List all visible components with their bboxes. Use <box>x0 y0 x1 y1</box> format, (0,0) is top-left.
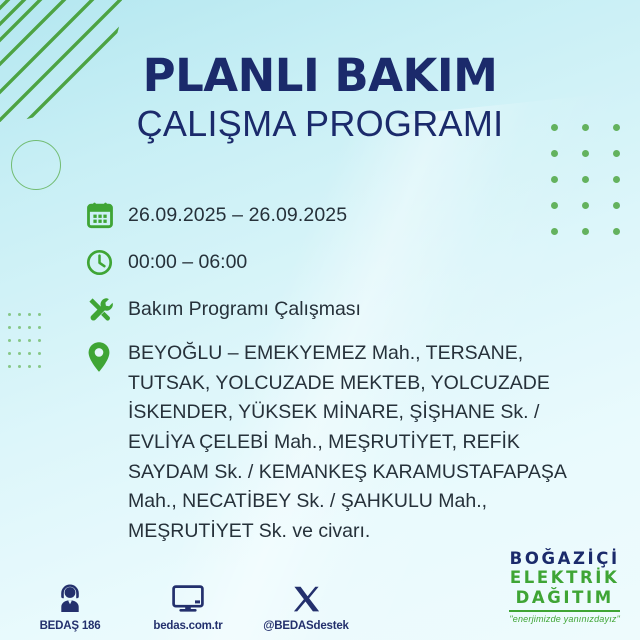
location-pin-icon <box>86 339 128 371</box>
contact-x-handle[interactable]: @BEDASdestek <box>260 579 352 632</box>
planned-maintenance-poster: PLANLI BAKIM ÇALIŞMA PROGRAMI 26 <box>0 0 640 640</box>
contact-website[interactable]: bedas.com.tr <box>142 579 234 632</box>
poster-header: PLANLI BAKIM ÇALIŞMA PROGRAMI <box>0 52 640 143</box>
monitor-icon <box>172 579 204 613</box>
logo-tagline: "enerjimizde yanınızdayız" <box>509 615 620 624</box>
affected-areas-text: BEYOĞLU – EMEKYEMEZ Mah., TERSANE, TUTSA… <box>128 339 598 546</box>
clock-icon <box>86 245 128 279</box>
page-title: PLANLI BAKIM <box>0 52 640 100</box>
detail-row-address: BEYOĞLU – EMEKYEMEZ Mah., TERSANE, TUTSA… <box>86 339 606 546</box>
circle-outline-decoration <box>11 140 61 190</box>
detail-row-work-type: Bakım Programı Çalışması <box>86 292 606 326</box>
x-twitter-icon <box>292 579 320 613</box>
contact-phone[interactable]: BEDAŞ 186 <box>24 579 116 632</box>
maintenance-time-range: 00:00 – 06:00 <box>128 245 247 275</box>
logo-divider <box>509 610 620 612</box>
logo-line-bogazici: BOĞAZİÇİ <box>509 551 620 568</box>
maintenance-date-range: 26.09.2025 – 26.09.2025 <box>128 198 347 228</box>
poster-footer: BEDAŞ 186 bedas.com.tr <box>0 548 640 640</box>
contact-website-label: bedas.com.tr <box>153 620 222 632</box>
logo-line-elektrik: ELEKTRİK <box>509 570 620 587</box>
detail-row-time: 00:00 – 06:00 <box>86 245 606 279</box>
dot-grid-left-decoration <box>8 313 48 378</box>
page-subtitle: ÇALIŞMA PROGRAMI <box>0 104 640 144</box>
logo-line-dagitim: DAĞITIM <box>509 590 620 607</box>
bedas-logo: BOĞAZİÇİ ELEKTRİK DAĞITIM "enerjimizde y… <box>509 551 620 625</box>
maintenance-details: 26.09.2025 – 26.09.2025 00:00 – 06:00 <box>86 198 606 546</box>
detail-row-date: 26.09.2025 – 26.09.2025 <box>86 198 606 232</box>
maintenance-work-type: Bakım Programı Çalışması <box>128 292 361 322</box>
contact-phone-label: BEDAŞ 186 <box>40 620 101 632</box>
tools-icon <box>86 292 128 326</box>
contact-x-label: @BEDASdestek <box>263 620 349 632</box>
contact-channels: BEDAŞ 186 bedas.com.tr <box>24 579 352 632</box>
support-agent-icon <box>55 579 85 613</box>
calendar-icon <box>86 198 128 232</box>
